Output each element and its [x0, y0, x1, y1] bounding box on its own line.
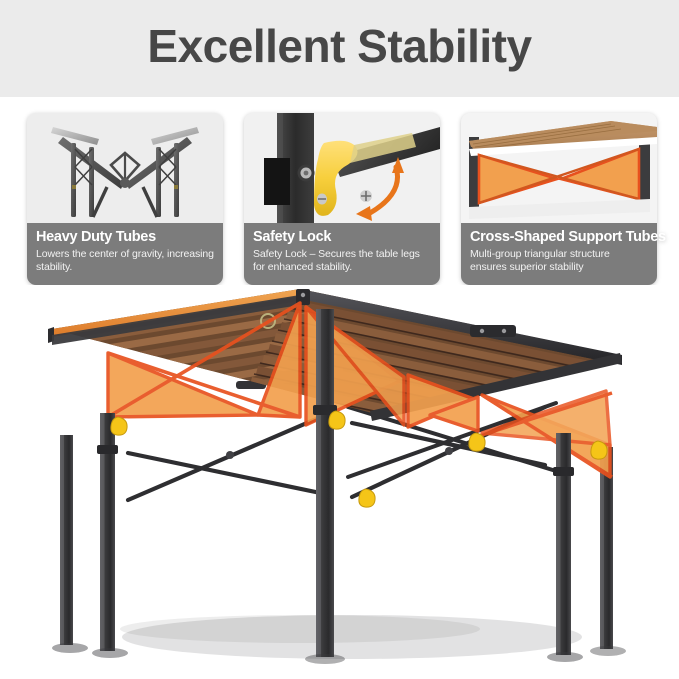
safety-lock-clip-3 [359, 489, 375, 507]
top-hinge-plate [470, 325, 516, 337]
safety-lock-clip-2 [329, 411, 345, 429]
infographic-page: Excellent Stability [0, 0, 679, 679]
brace-hub-right [445, 447, 453, 455]
card-title: Heavy Duty Tubes [36, 229, 214, 246]
table-leg-front-left [97, 413, 118, 651]
folding-frame-diagram-icon [27, 113, 223, 228]
feature-card-safety-lock[interactable]: Safety Lock Safety Lock – Secures the ta… [244, 113, 440, 285]
card-description: Safety Lock – Secures the table legs for… [253, 248, 431, 273]
product-illustration [0, 285, 679, 679]
feature-card-cross-shaped-support-tubes[interactable]: Cross-Shaped Support Tubes Multi-group t… [461, 113, 657, 285]
card-media-safety-lock [244, 113, 440, 228]
card-title: Cross-Shaped Support Tubes [470, 229, 648, 246]
card-title: Safety Lock [253, 229, 431, 246]
table-leg-center [313, 309, 337, 657]
safety-lock-clip-1 [111, 417, 127, 435]
feature-card-row: Heavy Duty Tubes Lowers the center of gr… [27, 113, 657, 285]
safety-lock-clip-4 [469, 433, 485, 451]
product-photo-folding-table [0, 285, 679, 679]
table-leg-back-left [60, 435, 73, 645]
safety-lock-lever-icon [244, 113, 440, 228]
page-title: Excellent Stability [0, 20, 679, 72]
brace-hub-left [226, 451, 234, 459]
table-underside-x-brace-icon [461, 113, 657, 228]
card-description: Lowers the center of gravity, increasing… [36, 248, 214, 273]
card-label-heavy-duty-tubes: Heavy Duty Tubes Lowers the center of gr… [27, 223, 223, 285]
feature-card-heavy-duty-tubes[interactable]: Heavy Duty Tubes Lowers the center of gr… [27, 113, 223, 285]
safety-lock-clip-5 [591, 441, 607, 459]
card-description: Multi-group triangular structure ensures… [470, 248, 648, 273]
table-leg-front-right [553, 433, 574, 655]
card-media-heavy-duty-tubes [27, 113, 223, 228]
card-media-cross-shaped-support-tubes [461, 113, 657, 228]
card-label-cross-shaped-support-tubes: Cross-Shaped Support Tubes Multi-group t… [461, 223, 657, 285]
card-label-safety-lock: Safety Lock Safety Lock – Secures the ta… [244, 223, 440, 285]
